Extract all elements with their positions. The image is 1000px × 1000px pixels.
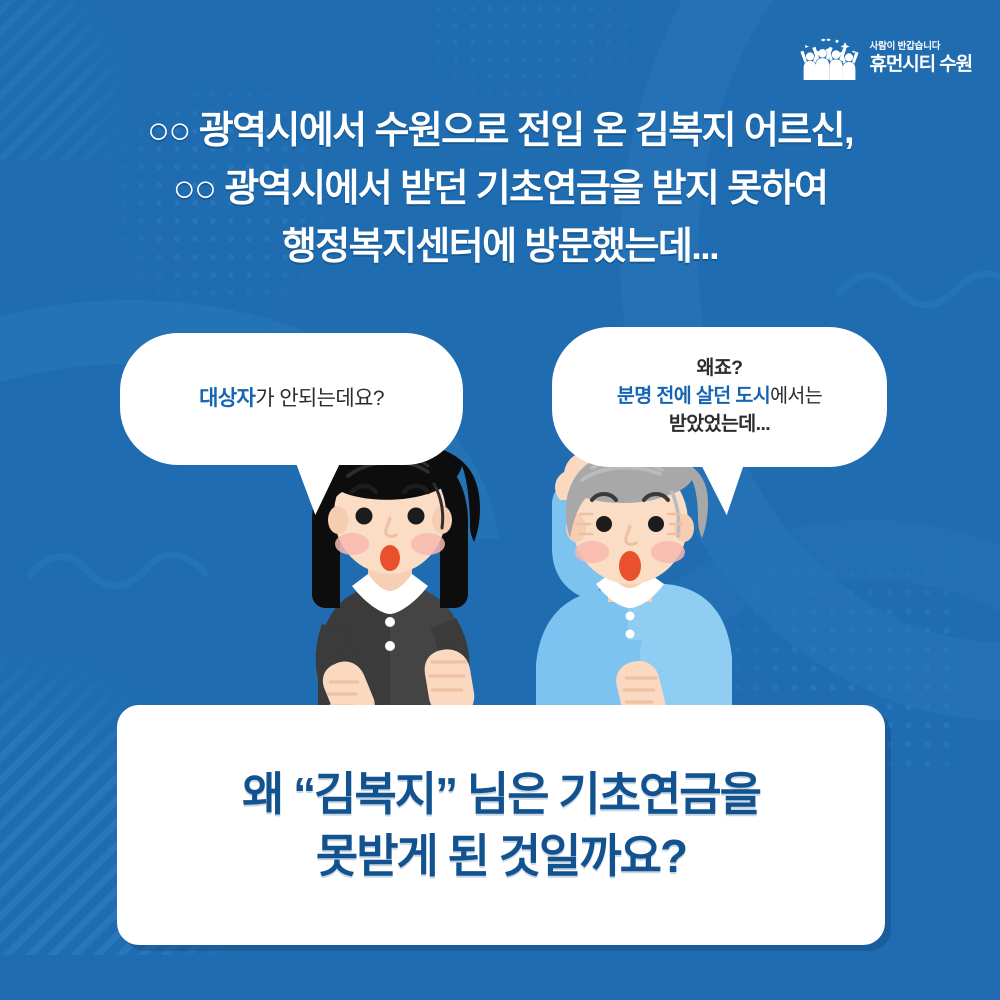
speech-bubble-elder-text: 왜죠? 분명 전에 살던 도시에서는 받았었는데...	[617, 355, 822, 438]
speech-bubble-elder: 왜죠? 분명 전에 살던 도시에서는 받았었는데...	[552, 327, 887, 467]
elder-line-1: 왜죠?	[617, 355, 822, 383]
speech-bubble-staff-text: 대상자가 안되는데요?	[199, 384, 384, 414]
elder-line-2-rest: 에서는	[770, 385, 822, 407]
staff-highlight-word: 대상자	[199, 387, 255, 410]
elder-line-3: 받았었는데...	[617, 411, 822, 439]
staff-rest-text: 가 안되는데요?	[255, 387, 384, 410]
infographic-card: 사람이 반갑습니다 휴먼시티 수원 ○○ 광역시에서 수원으로 전입 온 김복지…	[0, 0, 1000, 1000]
question-line-2: 못받게 된 것일까요?	[242, 825, 760, 887]
question-card: 왜 “김복지” 님은 기초연금을 못받게 된 것일까요?	[117, 705, 885, 945]
elder-highlight-phrase: 분명 전에 살던 도시	[617, 385, 770, 407]
elder-line-2: 분명 전에 살던 도시에서는	[617, 383, 822, 411]
speech-bubble-staff: 대상자가 안되는데요?	[120, 333, 463, 465]
question-line-1: 왜 “김복지” 님은 기초연금을	[242, 763, 760, 825]
question-text: 왜 “김복지” 님은 기초연금을 못받게 된 것일까요?	[230, 763, 772, 887]
